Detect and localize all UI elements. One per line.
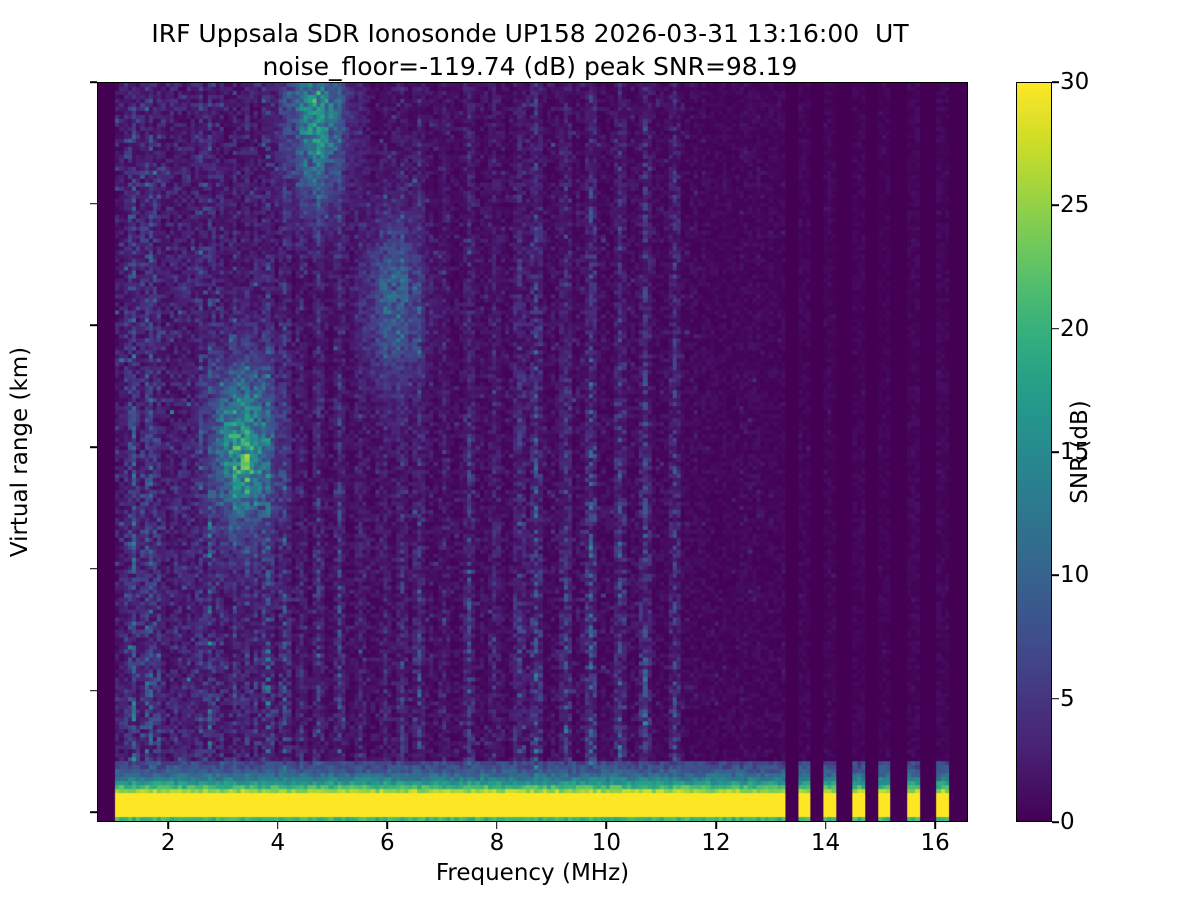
colorbar-tick-mark (1052, 821, 1059, 823)
ionogram-heatmap (98, 83, 967, 821)
colorbar-tick-label: 30 (1060, 69, 1089, 95)
colorbar-tick-mark (1052, 451, 1059, 453)
y-tick-mark (90, 203, 97, 205)
y-tick-mark (90, 446, 97, 448)
x-tick-label: 16 (920, 830, 949, 856)
title-line-2: noise_floor=-119.74 (dB) peak SNR=98.19 (0, 51, 1060, 84)
colorbar-tick-mark (1052, 81, 1059, 83)
y-tick-mark (90, 81, 97, 83)
y-tick-mark (90, 811, 97, 813)
x-tick-mark (277, 822, 279, 829)
x-axis-label: Frequency (MHz) (97, 860, 968, 886)
x-tick-label: 6 (380, 830, 395, 856)
y-tick-mark (90, 690, 97, 692)
colorbar (1016, 82, 1052, 822)
x-tick-label: 14 (811, 830, 840, 856)
x-tick-mark (825, 822, 827, 829)
colorbar-tick-label: 0 (1060, 809, 1075, 835)
title-line-1: IRF Uppsala SDR Ionosonde UP158 2026-03-… (0, 18, 1060, 51)
colorbar-tick-mark (1052, 205, 1059, 207)
x-tick-label: 8 (490, 830, 505, 856)
y-tick-mark (90, 568, 97, 570)
colorbar-tick-mark (1052, 328, 1059, 330)
y-tick-mark (90, 325, 97, 327)
page-title: IRF Uppsala SDR Ionosonde UP158 2026-03-… (0, 18, 1060, 83)
x-tick-mark (496, 822, 498, 829)
ionogram-figure: IRF Uppsala SDR Ionosonde UP158 2026-03-… (0, 0, 1200, 900)
colorbar-tick-label: 15 (1060, 439, 1089, 465)
x-tick-label: 4 (270, 830, 285, 856)
colorbar-gradient (1017, 83, 1051, 821)
x-tick-label: 10 (592, 830, 621, 856)
x-tick-label: 2 (161, 830, 176, 856)
x-tick-mark (606, 822, 608, 829)
colorbar-tick-label: 20 (1060, 316, 1089, 342)
x-tick-mark (715, 822, 717, 829)
plot-axes (97, 82, 968, 822)
colorbar-tick-label: 25 (1060, 192, 1089, 218)
x-tick-label: 12 (701, 830, 730, 856)
colorbar-tick-mark (1052, 698, 1059, 700)
colorbar-tick-label: 10 (1060, 562, 1089, 588)
x-tick-mark (934, 822, 936, 829)
y-axis-label: Virtual range (km) (7, 347, 33, 557)
colorbar-tick-label: 5 (1060, 686, 1075, 712)
colorbar-tick-mark (1052, 575, 1059, 577)
x-tick-mark (387, 822, 389, 829)
x-tick-mark (167, 822, 169, 829)
